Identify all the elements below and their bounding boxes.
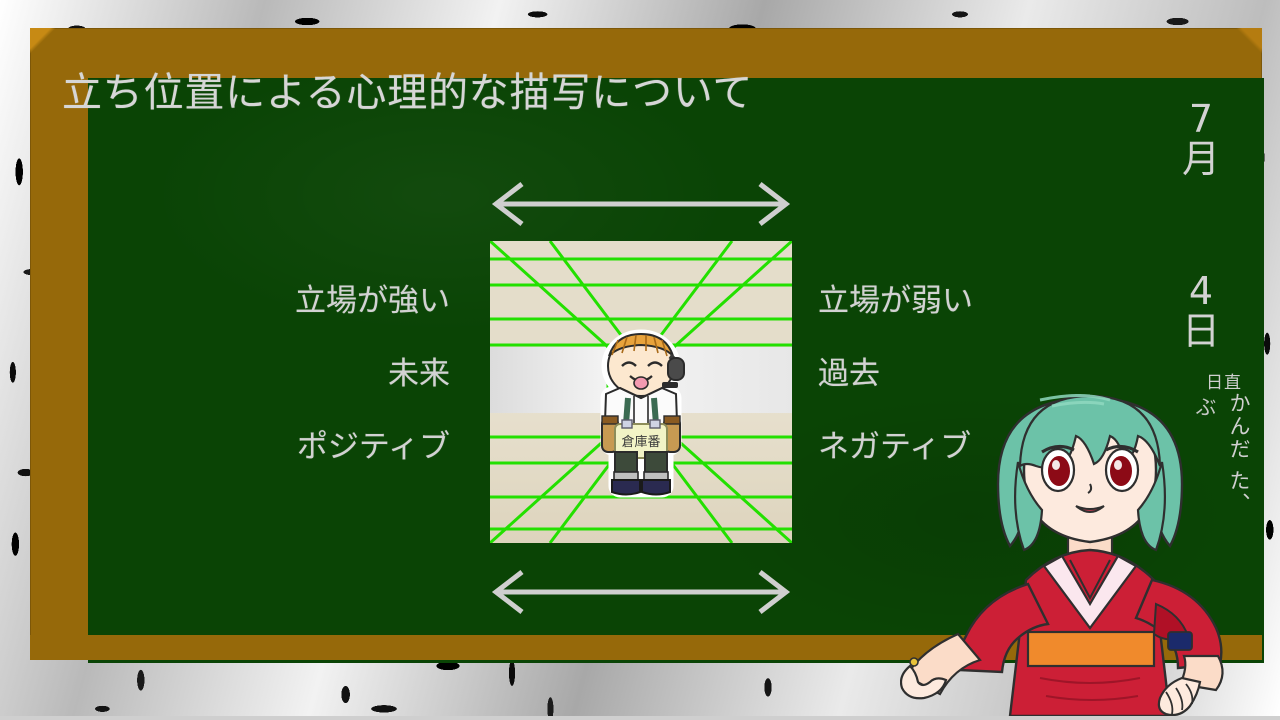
right-label-1: 立場が弱い <box>818 286 1038 359</box>
left-label-column: 立場が強い 未来 ポジティブ <box>230 286 450 505</box>
date-day-number: 4 <box>1168 272 1234 312</box>
date-month-kanji: 月 <box>1168 140 1234 180</box>
date-month: 7 月 <box>1168 100 1234 180</box>
left-label-2: 未来 <box>230 359 450 432</box>
horizontal-double-arrow-bottom <box>490 570 792 614</box>
warehouse-keeper-character: 倉庫番 <box>582 326 700 501</box>
horizontal-double-arrow-top <box>490 182 792 226</box>
date-column: 7 月 4 日 <box>1168 100 1234 352</box>
date-day: 4 日 <box>1168 272 1234 352</box>
anime-teacher-girl <box>900 366 1280 716</box>
perspective-room-image: 倉庫番 <box>490 241 792 543</box>
left-label-1: 立場が強い <box>230 286 450 359</box>
page-title: 立ち位置による心理的な描写について <box>62 60 753 118</box>
date-month-number: 7 <box>1168 100 1234 140</box>
left-label-3: ポジティブ <box>230 432 450 505</box>
sign-text: 倉庫番 <box>621 435 660 450</box>
date-day-kanji: 日 <box>1168 312 1234 352</box>
